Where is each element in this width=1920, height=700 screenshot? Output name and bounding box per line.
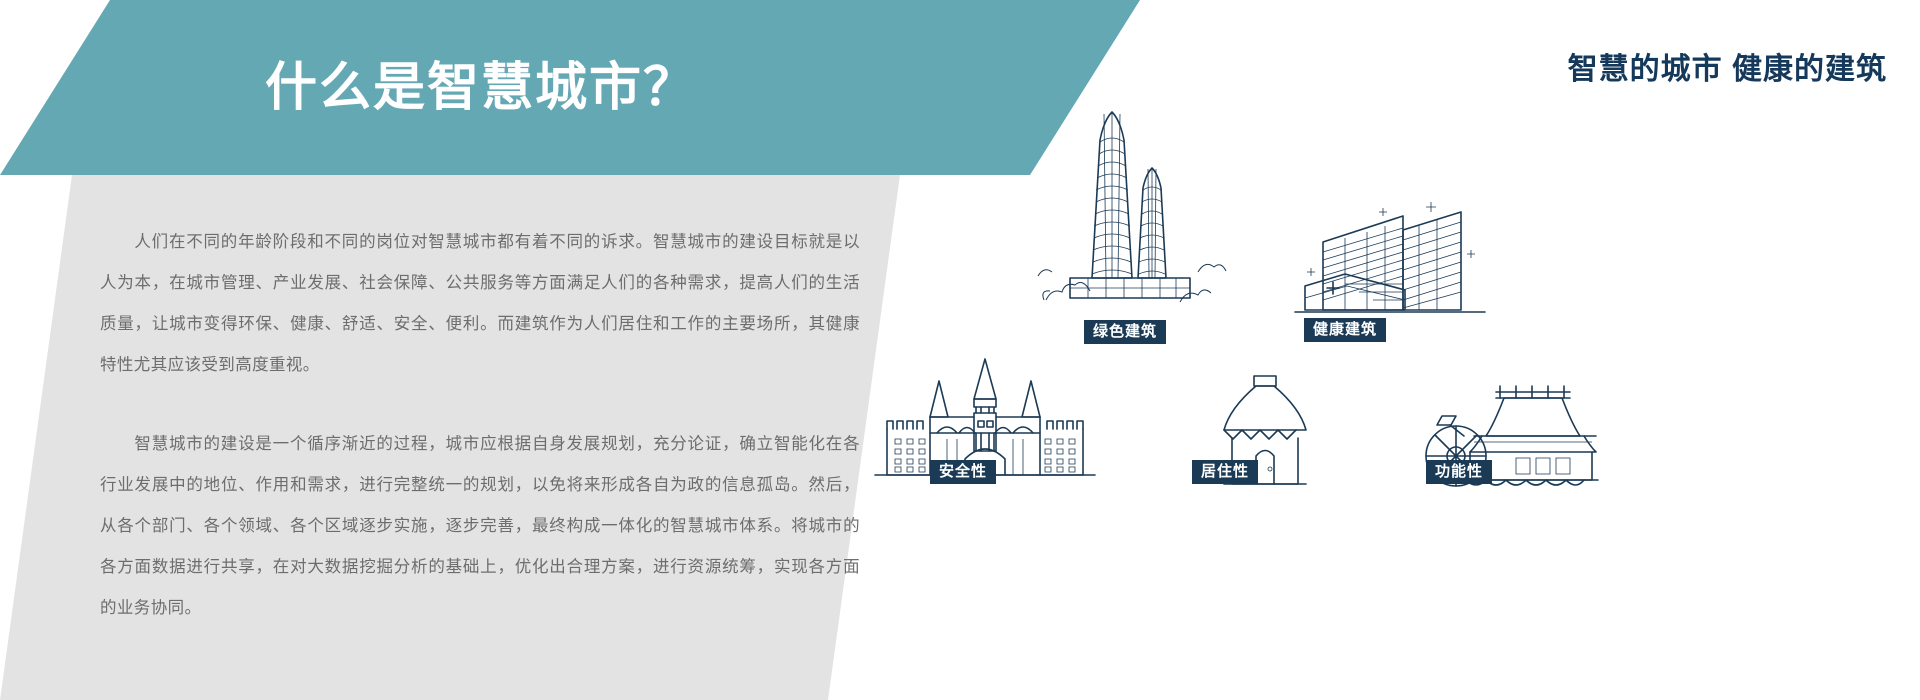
label-functionality: 功能性 (1426, 460, 1492, 484)
green-building-icon (1030, 100, 1230, 315)
header-kicker: 智慧的城市 健康的建筑 (1568, 44, 1887, 88)
illustration-group: 绿色建筑 (860, 90, 1920, 650)
label-livability: 居住性 (1192, 460, 1258, 484)
body-copy: 人们在不同的年龄阶段和不同的岗位对智慧城市都有着不同的诉求。智慧城市的建设目标就… (100, 205, 860, 645)
paragraph-2: 智慧城市的建设是一个循序渐近的过程，城市应根据自身发展规划，充分论证，确立智能化… (100, 424, 860, 629)
slide-root: 什么是智慧城市？ 智慧的城市 健康的建筑 人们在不同的年龄阶段和不同的岗位对智慧… (0, 0, 1920, 700)
page-title: 什么是智慧城市？ (265, 62, 697, 114)
paragraph-2-text: 智慧城市的建设是一个循序渐近的过程，城市应根据自身发展规划，充分论证，确立智能化… (100, 435, 860, 617)
label-health-building: 健康建筑 (1304, 318, 1386, 342)
label-safety: 安全性 (930, 460, 996, 484)
label-green-building: 绿色建筑 (1084, 320, 1166, 344)
paragraph-1-text: 人们在不同的年龄阶段和不同的岗位对智慧城市都有着不同的诉求。智慧城市的建设目标就… (100, 233, 860, 374)
health-building-icon (1285, 190, 1495, 325)
paragraph-1: 人们在不同的年龄阶段和不同的岗位对智慧城市都有着不同的诉求。智慧城市的建设目标就… (100, 222, 860, 386)
